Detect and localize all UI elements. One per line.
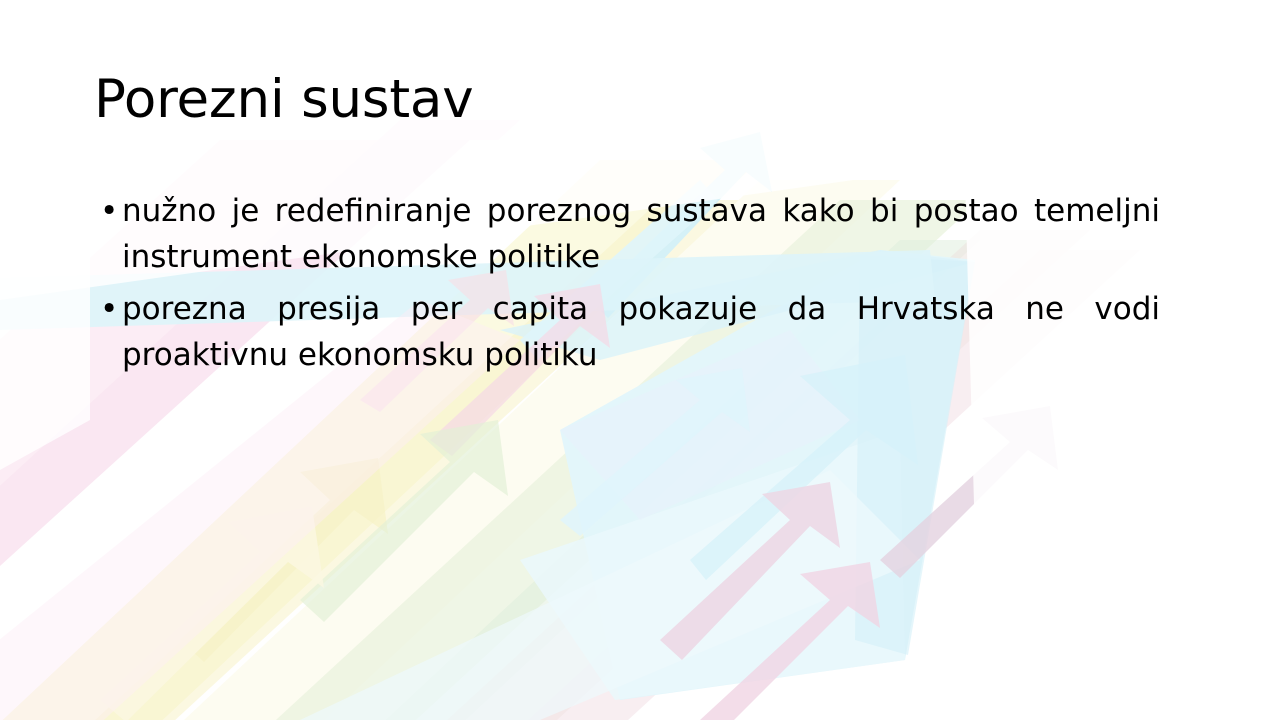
slide-canvas: Porezni sustav • nužno je redefiniranje … xyxy=(0,0,1280,720)
bullet-list: • nužno je redefiniranje poreznog sustav… xyxy=(96,188,1160,378)
list-item: • porezna presija per capita pokazuje da… xyxy=(96,286,1160,378)
content-layer: Porezni sustav • nužno je redefiniranje … xyxy=(0,0,1280,720)
page-title: Porezni sustav xyxy=(94,68,1184,132)
bullet-point-icon: • xyxy=(100,286,118,332)
bullet-text: nužno je redefiniranje poreznog sustava … xyxy=(122,188,1160,280)
bullet-text: porezna presija per capita pokazuje da H… xyxy=(122,286,1160,378)
body-block: • nužno je redefiniranje poreznog sustav… xyxy=(96,188,1160,378)
title-block: Porezni sustav xyxy=(94,68,1184,132)
bullet-point-icon: • xyxy=(100,188,118,234)
list-item: • nužno je redefiniranje poreznog sustav… xyxy=(96,188,1160,280)
